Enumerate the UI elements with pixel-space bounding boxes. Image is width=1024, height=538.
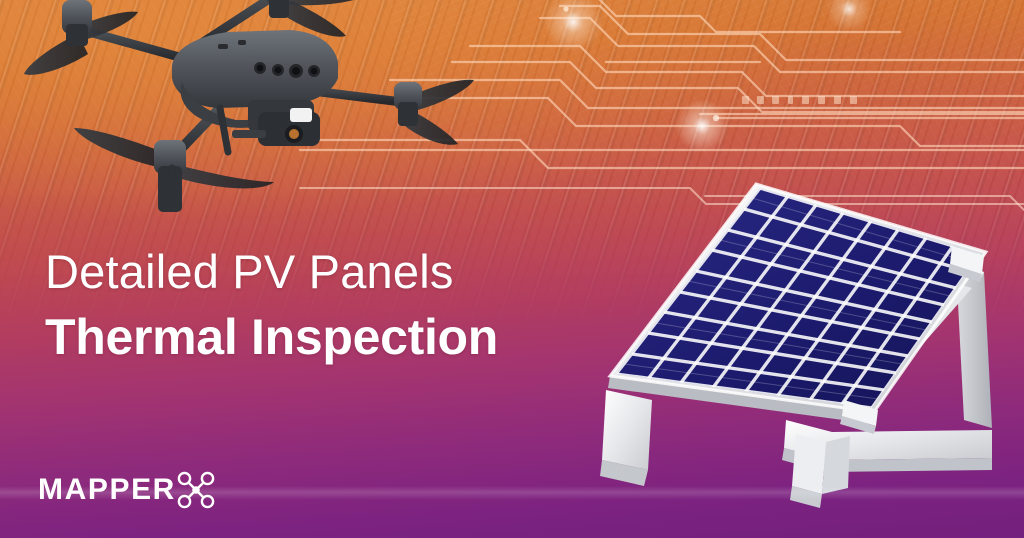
headline-line-1: Detailed PV Panels	[45, 248, 498, 295]
drone-x-icon	[176, 470, 216, 510]
drone-illustration	[22, 0, 502, 212]
headline-block: Detailed PV Panels Thermal Inspection	[45, 248, 498, 362]
brand-wordmark: MAPPER	[38, 475, 176, 505]
solar-panel-illustration	[600, 168, 1024, 518]
circuit-dot-row	[742, 96, 857, 104]
marketing-banner: Detailed PV Panels Thermal Inspection MA…	[0, 0, 1024, 538]
headline-line-2: Thermal Inspection	[45, 312, 498, 362]
brand-logo[interactable]: MAPPER	[38, 470, 216, 510]
